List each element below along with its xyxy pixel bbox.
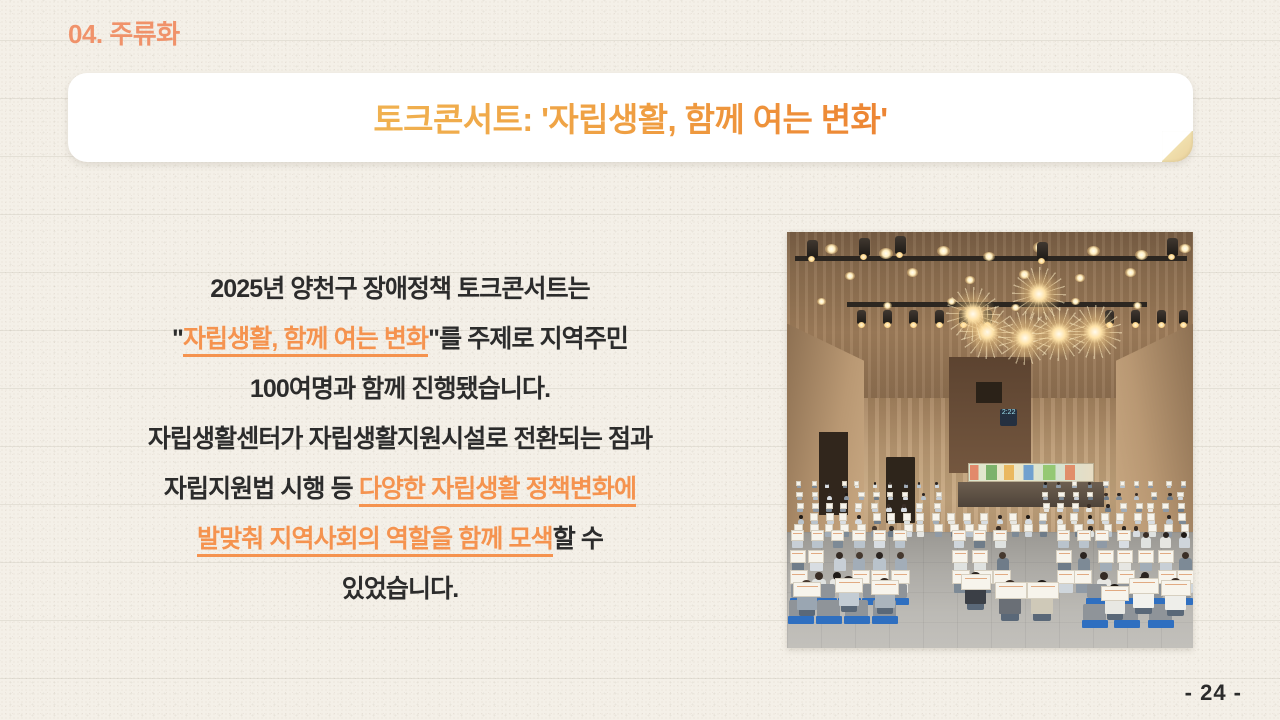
photo-placard <box>791 530 805 541</box>
photo-downlight <box>883 302 892 309</box>
photo-downlight <box>1125 268 1136 277</box>
photo-placard <box>826 503 833 509</box>
photo-person-head <box>1106 504 1110 508</box>
photo-person-body <box>895 558 907 570</box>
photo-audience-member <box>854 532 864 548</box>
photo-placard <box>934 503 941 509</box>
photo-placard <box>1101 513 1109 520</box>
photo-placard <box>1177 492 1183 498</box>
photo-placard <box>993 530 1007 541</box>
photo-person-body <box>1043 484 1047 488</box>
photo-placard <box>871 503 878 509</box>
photo-audience-member <box>840 504 846 513</box>
photo-person-body <box>1116 496 1121 501</box>
photo-audience-member-front <box>797 580 817 619</box>
photo-audience-member <box>921 493 926 501</box>
photo-audience-member <box>1178 493 1183 501</box>
photo-placard <box>1072 481 1077 486</box>
photo-audience-member <box>1120 482 1124 489</box>
photo-spotlight-fixture <box>883 310 892 324</box>
photo-audience-member <box>974 552 986 571</box>
photo-placard <box>934 524 943 532</box>
photo-audience-member <box>1178 504 1184 513</box>
photo-placard <box>916 524 925 532</box>
photo-downlight <box>1071 298 1080 305</box>
photo-audience-member <box>1179 532 1189 548</box>
photo-person-head <box>935 482 938 485</box>
page-title: 토크콘서트: '자립생활, 함께 여는 변화' <box>68 73 1193 162</box>
photo-placard <box>1161 580 1191 597</box>
photo-person-body <box>1134 496 1139 501</box>
photo-person-head <box>874 482 877 485</box>
photo-placard <box>1181 524 1190 532</box>
photo-placard <box>916 503 923 509</box>
photo-placard <box>1129 578 1159 595</box>
body-text-run: 있었습니다. <box>342 575 459 603</box>
photo-audience-member <box>1140 552 1152 571</box>
photo-spotlight-fixture <box>983 310 992 324</box>
section-header: 04. 주류화 <box>68 14 180 51</box>
photo-audience-member <box>813 504 819 513</box>
photo-downlight <box>845 272 855 280</box>
body-text-run: 를 주제로 지역주민 <box>439 325 628 353</box>
photo-placard <box>902 492 908 498</box>
photo-audience-member <box>825 482 829 489</box>
body-line: 100여명과 함께 진행됐습니다. <box>60 364 740 414</box>
photo-audience-member <box>855 504 861 513</box>
photo-hanging-spotlight <box>807 240 818 258</box>
photo-person-head <box>826 482 829 485</box>
photo-placard <box>1039 513 1047 520</box>
photo-audience-member <box>826 504 832 513</box>
photo-audience-member <box>974 532 984 548</box>
photo-placard <box>812 481 817 486</box>
photo-audience-member <box>1135 515 1142 525</box>
photo-audience-member <box>1167 482 1171 489</box>
photo-audience-member <box>903 493 908 501</box>
photo-placard <box>1120 503 1127 509</box>
photo-audience-member <box>810 552 822 571</box>
photo-stage-platform <box>958 482 1104 507</box>
photo-placard <box>808 550 824 562</box>
photo-audience-member <box>1044 504 1050 513</box>
photo-placard <box>1178 503 1185 509</box>
photo-audience-member <box>888 493 893 501</box>
photo-audience-member <box>1179 552 1191 571</box>
photo-placard <box>858 492 864 498</box>
photo-person-body <box>997 519 1004 525</box>
photo-audience-member <box>1059 493 1064 501</box>
photo-person-head <box>887 504 891 508</box>
photo-person-head <box>799 515 803 519</box>
photo-hanging-spotlight <box>895 236 906 254</box>
photo-placard <box>972 550 988 562</box>
photo-placard <box>873 513 881 520</box>
photo-placard <box>916 513 924 520</box>
photo-audience-member <box>888 482 892 489</box>
photo-placard <box>952 530 966 541</box>
photo-placard <box>961 574 991 591</box>
photo-placard <box>1057 570 1075 584</box>
photo-downlight <box>1019 270 1030 279</box>
photo-placard <box>1120 481 1125 486</box>
photo-audience-member <box>1043 482 1047 489</box>
photo-placard <box>1134 481 1139 486</box>
photo-audience-member-front <box>875 578 895 617</box>
photo-audience-member <box>1097 532 1107 548</box>
photo-placard <box>1117 530 1131 541</box>
photo-downlight <box>1011 304 1020 311</box>
photo-audience-member <box>1133 526 1140 537</box>
photo-audience-member-front <box>1133 576 1154 618</box>
photo-placard <box>952 550 968 562</box>
body-line: "자립생활, 함께 여는 변화"를 주제로 지역주민 <box>60 314 740 364</box>
photo-person-body <box>997 558 1009 570</box>
photo-placard <box>796 481 801 486</box>
photo-audience-member <box>1148 504 1154 513</box>
photo-placard <box>873 530 887 541</box>
photo-placard <box>973 530 987 541</box>
photo-audience-member <box>1134 493 1139 501</box>
photo-placard <box>1148 524 1157 532</box>
photo-placard <box>1101 586 1129 602</box>
highlighted-phrase: 다양한 자립생활 정책변화에 <box>359 475 636 507</box>
photo-audience-member <box>872 504 878 513</box>
body-text-run: 할 수 <box>553 525 603 553</box>
photo-placard <box>1117 550 1133 562</box>
photo-audience-member <box>1100 552 1112 571</box>
photo-audience-member <box>1058 532 1068 548</box>
photo-audience-member <box>1152 493 1157 501</box>
photo-person-body <box>1078 558 1090 570</box>
photo-placard <box>1166 481 1171 486</box>
photo-spotlight-fixture <box>857 310 866 324</box>
photo-audience-member <box>935 526 942 537</box>
photo-person-body <box>1160 537 1170 548</box>
photo-audience-member <box>1116 515 1123 525</box>
photo-placard <box>790 550 806 562</box>
photo-spotlight-fixture <box>1131 310 1140 324</box>
photo-audience-member <box>853 552 865 571</box>
photo-person-head <box>1087 504 1091 508</box>
photo-audience-member <box>1160 532 1170 548</box>
photo-wall-screen <box>976 382 1002 403</box>
photo-person-head <box>1163 532 1169 538</box>
photo-person-body <box>873 558 885 570</box>
photo-placard <box>1103 481 1108 486</box>
photo-placard <box>812 503 819 509</box>
photo-audience-member <box>1104 482 1108 489</box>
photo-placard <box>1074 570 1092 584</box>
photo-audience-member <box>1136 504 1142 513</box>
photo-audience-member <box>874 493 879 501</box>
photo-audience-member <box>1135 482 1139 489</box>
photo-placard <box>1138 550 1154 562</box>
photo-downlight <box>1075 274 1085 282</box>
photo-placard <box>810 513 818 520</box>
photo-audience-member <box>1040 526 1047 537</box>
photo-placard <box>1027 582 1059 600</box>
photo-person-head <box>1182 552 1189 559</box>
photo-person-body <box>901 507 907 512</box>
photo-audience-member <box>1160 552 1172 571</box>
photo-audience-member <box>935 482 939 489</box>
photo-person-head <box>1057 482 1060 485</box>
photo-placard <box>855 503 862 509</box>
photo-placard <box>1057 503 1064 509</box>
photo-audience-member <box>1074 493 1079 501</box>
photo-placard <box>835 578 863 594</box>
photo-placard <box>1151 492 1157 498</box>
photo-spotlight-fixture <box>935 310 944 324</box>
photo-person-head <box>1100 572 1108 580</box>
photo-placard <box>1095 530 1109 541</box>
photo-spotlight-fixture <box>1179 310 1188 324</box>
photo-chair-seat <box>844 616 870 624</box>
photo-downlight <box>817 298 826 305</box>
photo-downlight <box>907 268 918 277</box>
body-line: 자립지원법 시행 등 다양한 자립생활 정책변화에 <box>60 464 740 514</box>
highlighted-phrase: 자립생활, 함께 여는 변화 <box>183 325 428 357</box>
photo-audience-member <box>954 552 966 571</box>
photo-person-head <box>1117 493 1120 496</box>
photo-placard <box>796 492 802 498</box>
page-number: - 24 - <box>1185 680 1242 706</box>
photo-person-body <box>1086 507 1092 512</box>
photo-placard <box>887 492 893 498</box>
body-line: 2025년 양천구 장애정책 토크콘서트는 <box>60 264 740 314</box>
photo-person-body <box>935 484 939 488</box>
photo-hanging-spotlight <box>1037 242 1048 260</box>
photo-audience-member <box>855 482 859 489</box>
photo-placard <box>1042 492 1048 498</box>
photo-placard <box>797 503 804 509</box>
photo-placard <box>932 513 940 520</box>
photo-spotlight-fixture <box>909 310 918 324</box>
photo-audience-member <box>1163 504 1169 513</box>
photo-placard <box>1073 492 1079 498</box>
photo-placard <box>903 513 911 520</box>
photo-audience-member <box>1078 552 1090 571</box>
body-line: 발맞춰 지역사회의 역할을 함께 모색할 수 <box>60 514 740 564</box>
photo-placard <box>1024 524 1033 532</box>
photo-placard <box>947 513 955 520</box>
photo-placard <box>842 481 847 486</box>
photo-audience-member <box>859 493 864 501</box>
photo-placard <box>852 530 866 541</box>
photo-chair-seat <box>872 616 898 624</box>
photo-placard <box>893 530 907 541</box>
body-line: 있었습니다. <box>60 564 740 614</box>
photo-audience-member <box>873 482 877 489</box>
photo-downlight <box>879 248 893 259</box>
photo-person-body <box>825 484 829 488</box>
photo-audience-member-front <box>1105 584 1125 623</box>
photo-placard <box>1057 530 1071 541</box>
photo-audience-member <box>997 552 1009 571</box>
photo-digital-clock: 2:22 <box>1000 409 1017 426</box>
photo-placard <box>1164 524 1173 532</box>
photo-person-head <box>1134 526 1139 531</box>
photo-audience-member-front <box>965 572 986 614</box>
photo-placard <box>854 481 859 486</box>
photo-audience-member <box>895 552 907 571</box>
photo-placard <box>1077 530 1091 541</box>
photo-placard <box>871 580 899 596</box>
photo-placard <box>839 513 847 520</box>
photo-person-body <box>917 484 921 488</box>
photo-placard <box>1039 524 1048 532</box>
photo-person-body <box>921 496 926 501</box>
photo-person-head <box>1143 532 1149 538</box>
photo-person-head <box>1088 482 1091 485</box>
body-text-run: " <box>428 325 439 353</box>
photo-audience-member <box>844 493 849 501</box>
photo-audience-member <box>1056 482 1060 489</box>
photo-audience-member <box>812 482 816 489</box>
photo-audience-member <box>901 504 907 513</box>
body-text-run: 100여명과 함께 진행됐습니다. <box>250 375 550 403</box>
photo-audience-member <box>1012 526 1019 537</box>
photo-person-body <box>1088 484 1092 488</box>
photo-audience-member <box>792 552 804 571</box>
photo-person-body <box>1104 496 1109 501</box>
photo-audience-member <box>1073 504 1079 513</box>
photo-audience-member <box>886 504 892 513</box>
photo-placard <box>1162 503 1169 509</box>
photo-person-body <box>1179 558 1191 570</box>
photo-person-head <box>1058 515 1062 519</box>
body-line: 자립생활센터가 자립생활지원시설로 전환되는 점과 <box>60 414 740 464</box>
photo-audience-member <box>1059 572 1073 594</box>
photo-placard <box>793 582 821 598</box>
photo-audience-member <box>904 482 908 489</box>
photo-audience-member <box>936 493 941 501</box>
body-text-run: 자립생활센터가 자립생활지원시설로 전환되는 점과 <box>148 425 652 453</box>
event-photo: 2:22 <box>787 232 1193 648</box>
photo-audience-member <box>1181 482 1185 489</box>
photo-placard <box>995 582 1027 600</box>
highlighted-phrase: 발맞춰 지역사회의 역할을 함께 모색 <box>197 525 553 557</box>
photo-person-body <box>886 507 892 512</box>
photo-audience-member-front <box>1031 580 1053 624</box>
photo-audience-member <box>1072 482 1076 489</box>
photo-audience-member <box>995 532 1005 548</box>
photo-person-head <box>1044 482 1047 485</box>
photo-audience-member <box>874 515 881 525</box>
photo-hanging-spotlight <box>859 238 870 256</box>
photo-person-head <box>876 552 883 559</box>
photo-audience-member <box>1043 493 1048 501</box>
photo-placard <box>1148 481 1153 486</box>
photo-audience-member <box>827 493 832 501</box>
photo-audience-member <box>813 493 818 501</box>
photo-person-head <box>1168 493 1171 496</box>
photo-audience-member <box>1057 504 1063 513</box>
photo-person-head <box>857 515 861 519</box>
body-text-run: 자립지원법 시행 등 <box>164 475 359 503</box>
photo-person-body <box>844 496 849 501</box>
photo-audience-member <box>873 552 885 571</box>
photo-person-head <box>889 482 892 485</box>
photo-audience-member <box>916 504 922 513</box>
photo-audience-member <box>1119 552 1131 571</box>
photo-placard <box>1056 550 1072 562</box>
photo-audience-member <box>1116 493 1121 501</box>
photo-audience-member <box>1141 532 1151 548</box>
photo-placard <box>1147 503 1154 509</box>
photo-placard <box>831 530 845 541</box>
photo-audience-member <box>812 532 822 548</box>
photo-audience-member <box>954 532 964 548</box>
photo-person-head <box>902 504 906 508</box>
photo-placard <box>1158 550 1174 562</box>
photo-placard <box>811 530 825 541</box>
photo-placard <box>1072 503 1079 509</box>
photo-audience-member-front <box>1165 578 1186 620</box>
photo-audience-member <box>797 482 801 489</box>
photo-person-body <box>1133 530 1140 537</box>
photo-audience-member <box>1119 532 1129 548</box>
photo-placard <box>936 492 942 498</box>
photo-audience-member-front <box>999 580 1021 624</box>
photo-person-body <box>1087 519 1094 525</box>
photo-audience-member <box>834 552 846 571</box>
photo-person-head <box>815 572 823 580</box>
photo-chair-seat <box>1148 620 1174 628</box>
photo-person-body <box>888 484 892 488</box>
photo-audience-member <box>1025 526 1032 537</box>
photo-audience-member <box>833 532 843 548</box>
photo-audience-member <box>1167 493 1172 501</box>
photo-chair-seat <box>816 616 842 624</box>
photo-placard <box>1087 492 1093 498</box>
photo-person-body <box>1167 496 1172 501</box>
photo-audience-member <box>1121 504 1127 513</box>
photo-chair-back <box>1083 604 1106 621</box>
photo-placard <box>1178 513 1186 520</box>
photo-audience-member <box>888 515 895 525</box>
photo-placard <box>1147 513 1155 520</box>
photo-placard <box>1116 513 1124 520</box>
photo-placard <box>1043 503 1050 509</box>
photo-placard <box>1009 513 1017 520</box>
photo-spotlight-fixture <box>1105 310 1114 324</box>
photo-chair-back <box>817 600 840 617</box>
photo-placard <box>873 492 879 498</box>
photo-person-head <box>856 552 863 559</box>
photo-audience-member <box>1088 493 1093 501</box>
photo-person-head <box>905 482 908 485</box>
photo-person-body <box>873 484 877 488</box>
photo-placard <box>1134 513 1142 520</box>
photo-downlight <box>965 276 975 284</box>
photo-audience-member <box>1105 504 1111 513</box>
photo-person-body <box>1179 537 1189 548</box>
photo-person-head <box>1104 493 1107 496</box>
photo-placard <box>1011 524 1020 532</box>
photo-placard <box>840 503 847 509</box>
photo-placard <box>1136 503 1143 509</box>
photo-center-panel <box>949 357 1030 473</box>
photo-placard <box>980 513 988 520</box>
photo-placard <box>1181 481 1186 486</box>
photo-audience-member <box>1079 532 1089 548</box>
photo-audience-member <box>797 493 802 501</box>
photo-audience-member <box>935 504 941 513</box>
photo-audience-member <box>792 532 802 548</box>
photo-downlight <box>947 298 956 305</box>
